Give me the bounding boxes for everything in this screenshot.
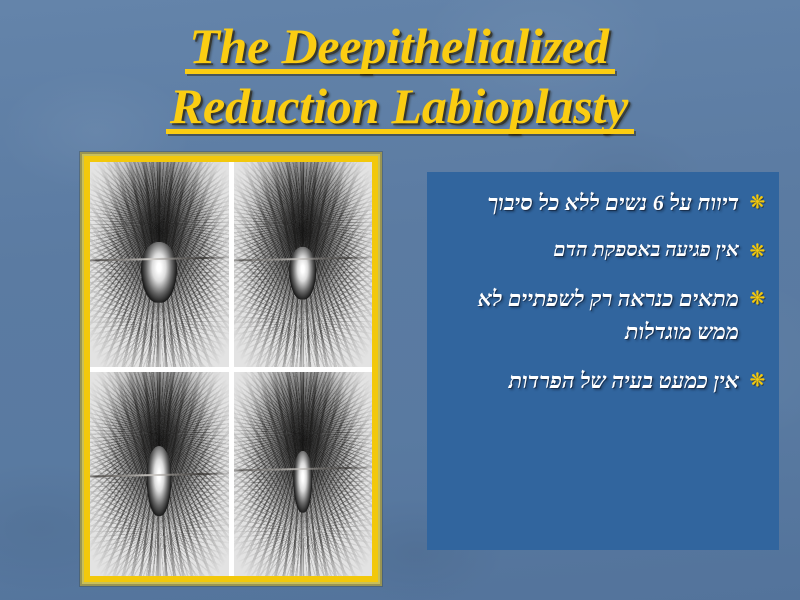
title-line-2-text: Reduction Labioplasty	[166, 76, 634, 136]
text-panel: ❊ דיווח על 6 נשים ללא כל סיבוך ❊ אין פגי…	[427, 172, 779, 550]
title-line-1-text: The Deepithelialized	[185, 16, 615, 76]
page-title: The Deepithelialized Reduction Labioplas…	[0, 16, 800, 136]
photo-grid	[90, 162, 372, 576]
clinical-photo-bottom-left	[90, 372, 229, 577]
list-item: ❊ אין כמעט בעיה של הפרדות	[441, 364, 765, 397]
list-item-label: דיווח על 6 נשים ללא כל סיבוך	[488, 190, 740, 215]
fleuron-bullet-icon: ❊	[750, 190, 765, 214]
list-item: ❊ אין פגיעה באספקת הדם	[441, 235, 765, 266]
list-item-label: מתאים כנראה רק לשפתיים לא ממש מוגדלות	[478, 286, 739, 344]
photo-focus-region	[147, 446, 172, 516]
image-frame	[80, 152, 382, 586]
clinical-photo-top-right	[234, 162, 373, 367]
clinical-photo-bottom-right	[234, 372, 373, 577]
title-line-1: The Deepithelialized	[0, 16, 800, 76]
photo-focus-region	[289, 247, 317, 300]
title-line-2: Reduction Labioplasty	[0, 76, 800, 136]
photo-focus-region	[141, 242, 177, 303]
bullet-list: ❊ דיווח על 6 נשים ללא כל סיבוך ❊ אין פגי…	[441, 186, 765, 397]
slide-canvas: The Deepithelialized Reduction Labioplas…	[0, 0, 800, 600]
image-frame-inner-border	[84, 156, 378, 582]
clinical-photo-top-left	[90, 162, 229, 367]
list-item-label: אין פגיעה באספקת הדם	[553, 239, 739, 261]
list-item: ❊ מתאים כנראה רק לשפתיים לא ממש מוגדלות	[441, 282, 765, 348]
fleuron-bullet-icon: ❊	[750, 368, 765, 392]
list-item: ❊ דיווח על 6 נשים ללא כל סיבוך	[441, 186, 765, 219]
list-item-label: אין כמעט בעיה של הפרדות	[509, 368, 739, 393]
fleuron-bullet-icon: ❊	[750, 239, 765, 263]
fleuron-bullet-icon: ❊	[750, 286, 765, 310]
